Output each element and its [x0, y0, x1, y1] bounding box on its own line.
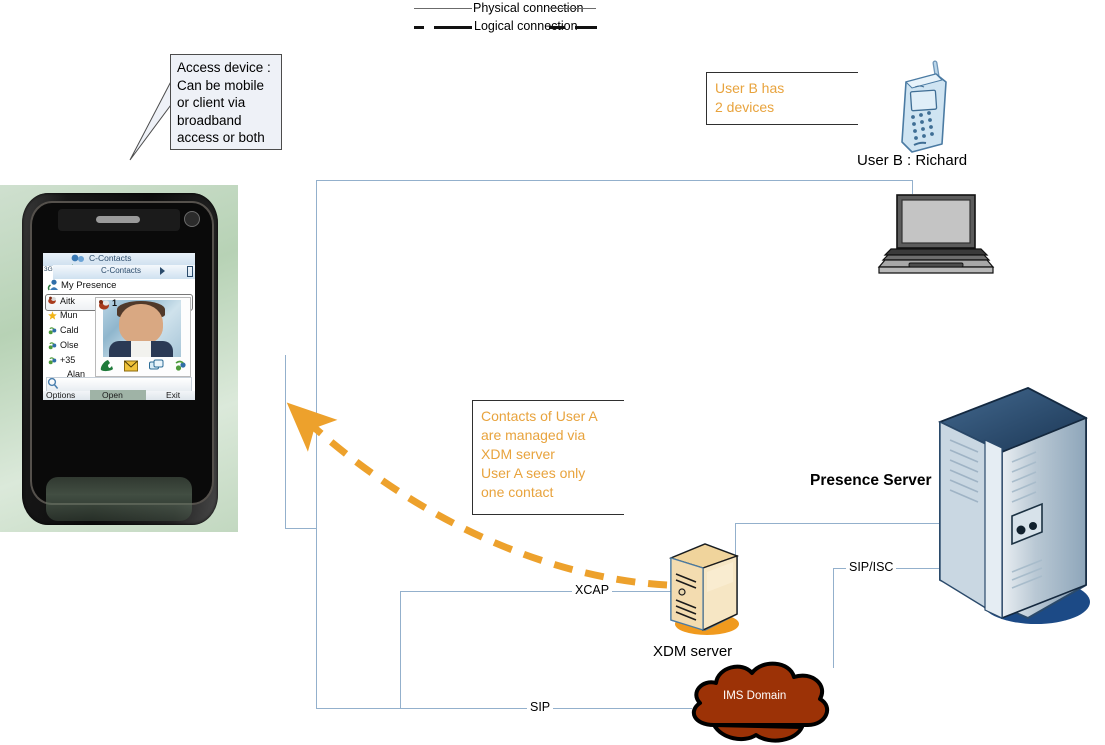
- contacts-note-line-4: User A sees only: [481, 464, 616, 483]
- contact-status-icon-2: [48, 326, 57, 335]
- access-device-callout: Access device : Can be mobile or client …: [170, 54, 282, 150]
- contacts-note-line-2: are managed via: [481, 426, 616, 445]
- legend-physical-line-left: [414, 8, 472, 9]
- presence-badge-icon: [98, 299, 112, 311]
- link-phone-vertical: [285, 355, 286, 528]
- callout-line-4: broadband: [177, 112, 275, 130]
- phone-contact-actions: [99, 359, 187, 373]
- phone-my-presence-label[interactable]: My Presence: [61, 280, 116, 291]
- presence-server-label: Presence Server: [810, 472, 932, 490]
- legend-physical-line-right: [548, 8, 596, 9]
- phone-contact-0[interactable]: Aitk: [60, 296, 75, 306]
- battery-icon: [187, 266, 193, 277]
- access-device-phone-photo: C-Contacts 3G C-Contacts My Presence Ait…: [0, 185, 238, 532]
- user-b-devices-note: User B has 2 devices: [706, 72, 858, 125]
- link-xcap-horizontal: [400, 591, 672, 592]
- legend-logical-dash-3: [549, 26, 565, 29]
- phone-network-indicator: 3G: [44, 266, 53, 273]
- phone-app-title: C-Contacts: [89, 253, 132, 263]
- legend: Physical connection Logical connection: [0, 0, 1105, 40]
- search-icon: [47, 377, 59, 390]
- user-b-mobile-device-icon: [894, 60, 952, 155]
- legend-logical-dash-1: [414, 26, 424, 29]
- contact-avatar: [103, 300, 181, 357]
- callout-line-2: Can be mobile: [177, 77, 275, 95]
- phone-front-camera-icon: [184, 211, 200, 227]
- phone-contact-2[interactable]: Cald: [60, 325, 79, 335]
- phone-tab-label: C-Contacts: [101, 266, 141, 275]
- user-b-laptop-icon: [875, 193, 997, 278]
- avatar-shirt: [131, 341, 151, 357]
- link-label-xcap: XCAP: [572, 584, 612, 597]
- link-phone-horizontal: [285, 528, 317, 529]
- legend-logical-dash-4: [575, 26, 597, 29]
- link-label-sipisc: SIP/ISC: [846, 561, 896, 574]
- chat-icon[interactable]: [149, 359, 164, 373]
- phone-contact-4[interactable]: +35: [60, 355, 75, 365]
- link-label-sip: SIP: [527, 701, 553, 714]
- legend-logical-dash-2: [434, 26, 472, 29]
- phone-contact-3[interactable]: Olse: [60, 340, 79, 350]
- contacts-note-line-5: one contact: [481, 483, 616, 502]
- user-b-note-line-1: User B has: [715, 79, 850, 98]
- callout-line-1: Access device :: [177, 59, 275, 77]
- share-presence-icon[interactable]: [174, 359, 188, 373]
- xdm-server-icon: [655, 538, 745, 638]
- call-icon[interactable]: [99, 359, 113, 373]
- link-xcap-vertical: [400, 591, 401, 708]
- message-icon[interactable]: [124, 359, 138, 373]
- user-b-label: User B : Richard: [857, 152, 967, 169]
- contact-status-icon-3: [48, 341, 57, 350]
- phone-contact-1[interactable]: Mun: [60, 310, 78, 320]
- phone-softkey-exit[interactable]: Exit: [166, 390, 180, 400]
- contacts-note-line-1: Contacts of User A: [481, 407, 616, 426]
- presence-badge-count: 1: [112, 298, 117, 308]
- link-laptop-vertical: [912, 180, 913, 194]
- phone-navigation-pad[interactable]: [46, 477, 192, 521]
- phone-softkey-open[interactable]: Open: [102, 390, 123, 400]
- contacts-xdm-note: Contacts of User A are managed via XDM s…: [472, 400, 624, 515]
- phone-softkey-options[interactable]: Options: [46, 390, 75, 400]
- link-sipisc-vertical: [833, 568, 834, 668]
- link-left-vertical-main: [316, 180, 317, 708]
- contacts-note-line-3: XDM server: [481, 445, 616, 464]
- ims-domain-label: IMS Domain: [723, 690, 786, 702]
- favorite-star-icon: [48, 311, 57, 320]
- contact-status-icon-4: [48, 356, 57, 365]
- link-top-horizontal: [316, 180, 913, 181]
- phone-speaker-grille: [96, 216, 140, 223]
- callout-line-3: or client via: [177, 94, 275, 112]
- link-sip-horizontal: [316, 708, 692, 709]
- presence-server-icon: [908, 380, 1093, 630]
- my-presence-icon: [47, 279, 60, 291]
- phone-screen[interactable]: C-Contacts 3G C-Contacts My Presence Ait…: [43, 253, 195, 400]
- user-b-note-line-2: 2 devices: [715, 98, 850, 117]
- avatar-face: [119, 304, 163, 344]
- chevron-right-icon[interactable]: [160, 267, 165, 275]
- callout-line-5: access or both: [177, 129, 275, 147]
- contact-status-icon-0: [48, 296, 57, 305]
